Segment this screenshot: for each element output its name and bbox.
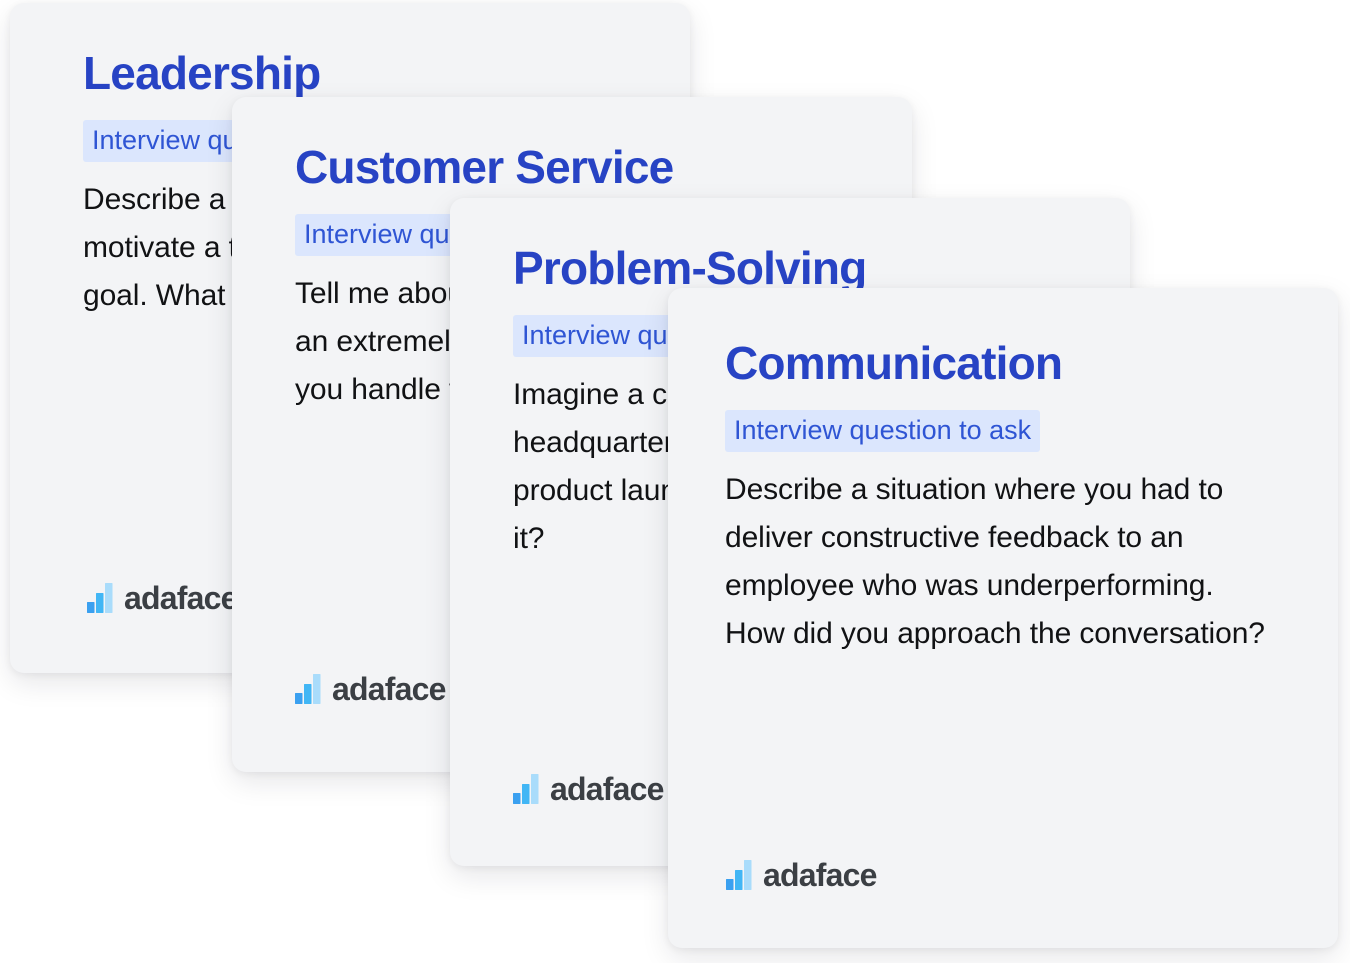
card-stack: Leadership Interview question to ask Des… [0, 0, 1350, 963]
bar-chart-icon [295, 674, 321, 704]
brand-name: adaface [332, 674, 446, 704]
brand-logo: adaface [295, 674, 446, 704]
bar-chart-icon [87, 583, 113, 613]
question-card-communication[interactable]: Communication Interview question to ask … [668, 288, 1338, 948]
bar-chart-icon [726, 860, 752, 890]
card-title: Communication [725, 339, 1338, 388]
card-title: Leadership [83, 49, 690, 98]
brand-name: adaface [550, 774, 664, 804]
brand-name: adaface [763, 860, 877, 890]
bar-chart-icon [513, 774, 539, 804]
brand-logo: adaface [726, 860, 877, 890]
status-badge: Interview question to ask [725, 410, 1040, 452]
card-question-text: Describe a situation where you had to de… [725, 466, 1265, 658]
card-content: Communication Interview question to ask … [668, 288, 1338, 948]
brand-name: adaface [124, 583, 238, 613]
card-title: Problem-Solving [513, 244, 1130, 293]
brand-logo: adaface [87, 583, 238, 613]
card-title: Customer Service [295, 143, 912, 192]
brand-logo: adaface [513, 774, 664, 804]
